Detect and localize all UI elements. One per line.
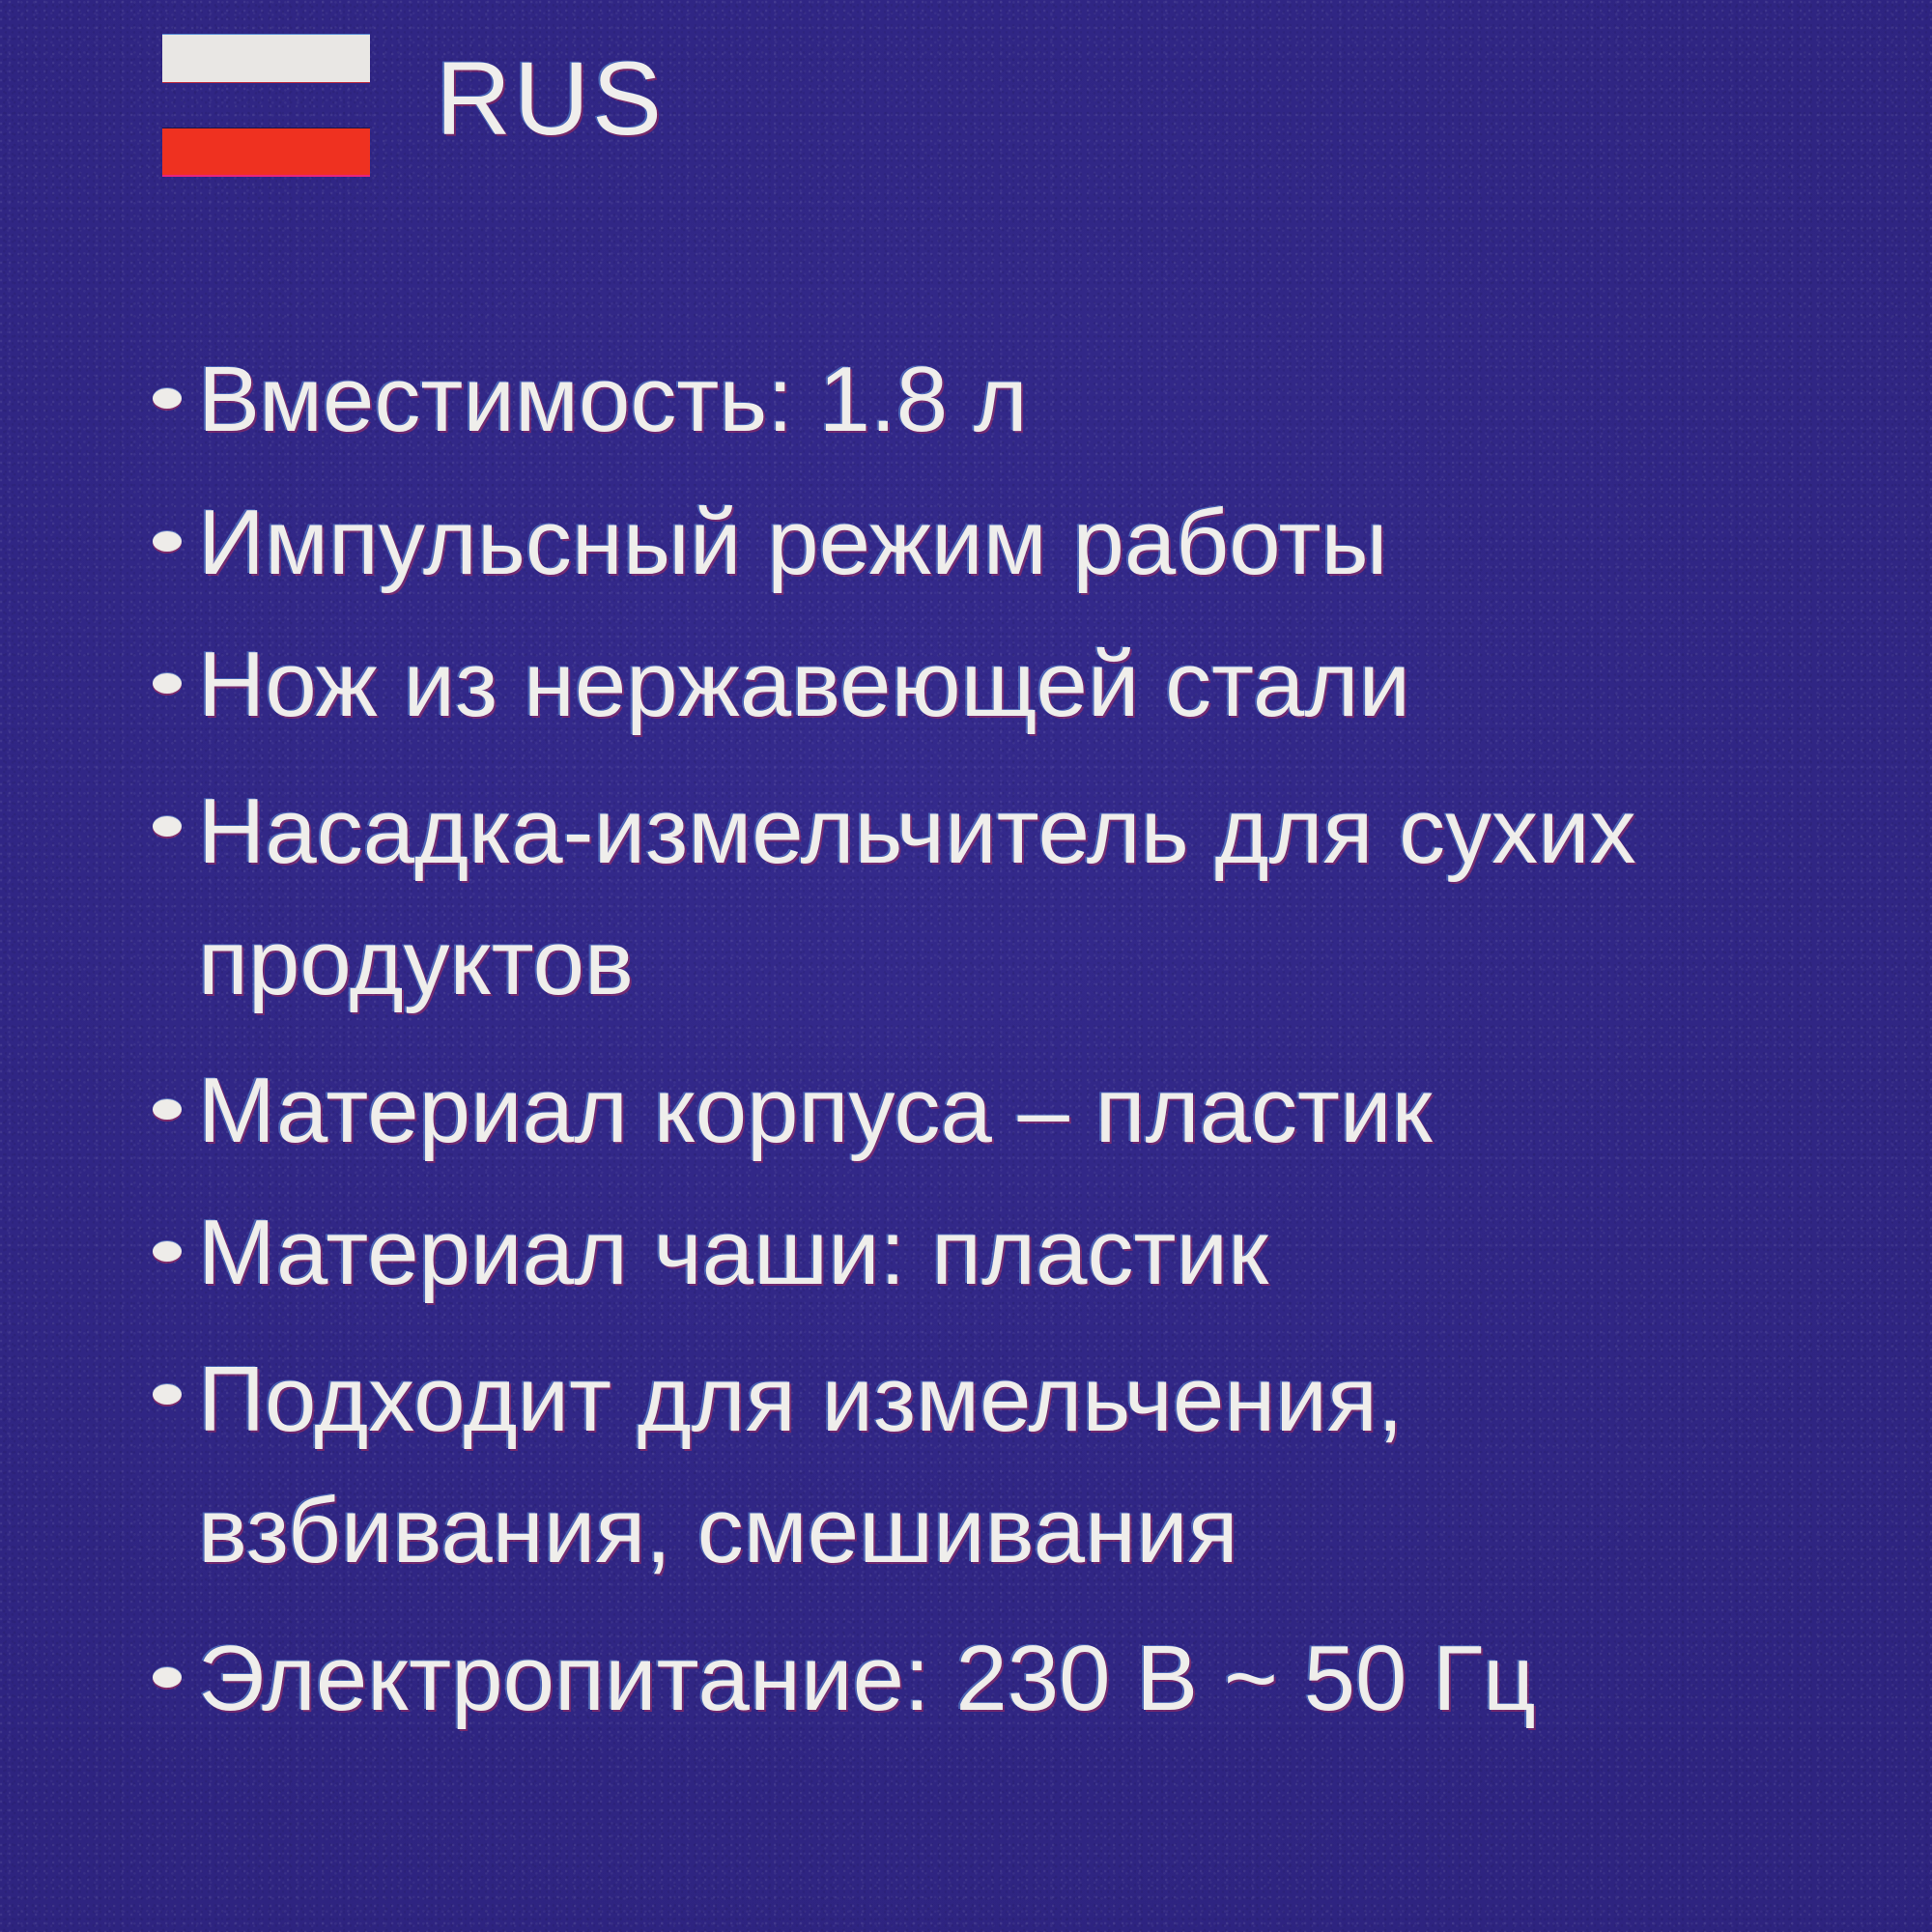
language-header: RUS: [162, 29, 665, 174]
list-item: Вместимость: 1.8 л: [153, 338, 1901, 462]
list-item: Подходит для измельчения, взбивания, сме…: [153, 1334, 1901, 1598]
spec-text: Насадка-измельчитель для сухих продуктов: [198, 766, 1901, 1030]
flag-stripe-white: [162, 35, 370, 82]
bullet-dot-icon: [153, 388, 182, 409]
flag-stripe-red: [162, 128, 370, 175]
spec-text: Вместимость: 1.8 л: [198, 338, 1028, 462]
bullet-dot-icon: [153, 673, 182, 694]
language-code-label: RUS: [436, 46, 665, 151]
spec-text: Материал корпуса – пластик: [198, 1049, 1433, 1173]
bullet-dot-icon: [153, 531, 182, 552]
list-item: Насадка-измельчитель для сухих продуктов: [153, 766, 1901, 1030]
bullet-dot-icon: [153, 1099, 182, 1120]
spec-text: Материал чаши: пластик: [198, 1191, 1268, 1315]
bullet-dot-icon: [153, 816, 182, 837]
russian-flag-icon: [162, 29, 370, 174]
bullet-dot-icon: [153, 1241, 182, 1262]
bullet-dot-icon: [153, 1384, 182, 1405]
specification-list: Вместимость: 1.8 л Импульсный режим рабо…: [153, 338, 1901, 1759]
list-item: Материал корпуса – пластик: [153, 1049, 1901, 1173]
spec-text: Нож из нержавеющей стали: [198, 623, 1410, 747]
product-spec-panel: RUS Вместимость: 1.8 л Импульсный режим …: [0, 0, 1932, 1932]
list-item: Нож из нержавеющей стали: [153, 623, 1901, 747]
bullet-dot-icon: [153, 1667, 182, 1688]
list-item: Электропитание: 230 В ~ 50 Гц: [153, 1617, 1901, 1741]
spec-text: Импульсный режим работы: [198, 481, 1387, 605]
flag-stripe-blue: [162, 82, 370, 128]
list-item: Материал чаши: пластик: [153, 1191, 1901, 1315]
list-item: Импульсный режим работы: [153, 481, 1901, 605]
spec-text: Подходит для измельчения, взбивания, сме…: [198, 1334, 1901, 1598]
spec-text: Электропитание: 230 В ~ 50 Гц: [198, 1617, 1536, 1741]
